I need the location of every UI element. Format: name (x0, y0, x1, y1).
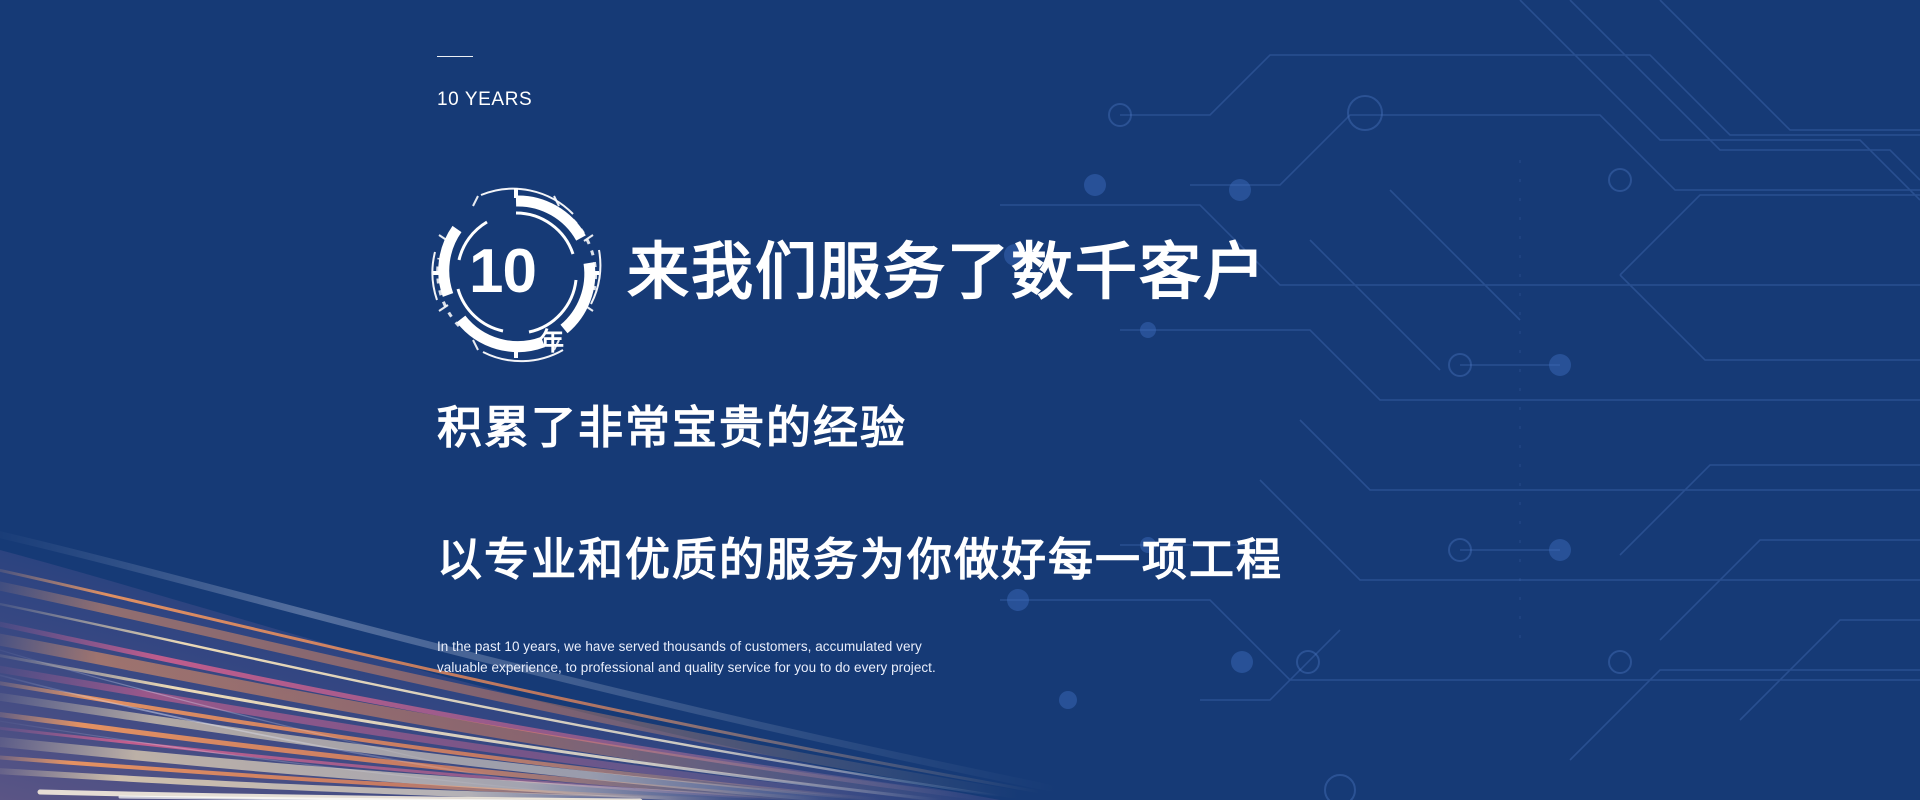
subline-primary: 积累了非常宝贵的经验 (437, 405, 907, 450)
eyebrow-rule (437, 56, 473, 57)
tech-ring-icon: 10 年 (423, 180, 609, 366)
promo-banner: 10 YEARS (0, 0, 1920, 800)
english-blurb: In the past 10 years, we have served tho… (437, 637, 962, 678)
headline-row: 10 年 来我们服务了数千客户 (423, 180, 1267, 366)
eyebrow-label: 10 YEARS (437, 89, 532, 111)
subline-secondary: 以专业和优质的服务为你做好每一项工程 (437, 537, 1283, 582)
badge-number: 10 (469, 241, 536, 303)
headline: 来我们服务了数千客户 (627, 242, 1267, 304)
badge-label: 10 年 (423, 180, 609, 366)
badge-unit: 年 (539, 330, 563, 364)
banner-content: 10 YEARS (437, 0, 1637, 800)
